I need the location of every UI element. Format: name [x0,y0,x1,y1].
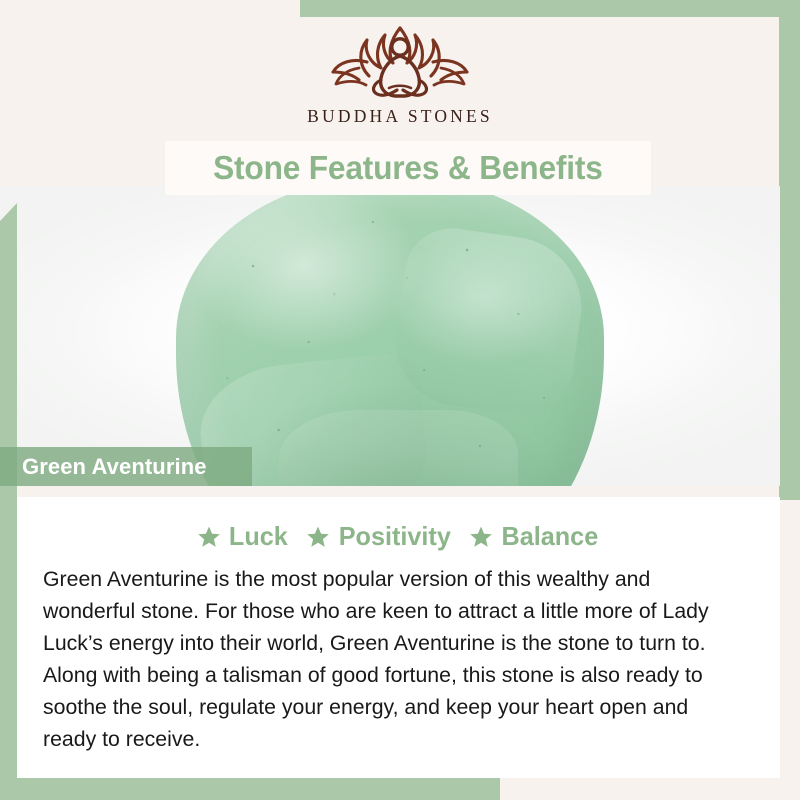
stone-speckles [176,186,604,486]
stone-photo [0,186,780,486]
infographic-card: BUDDHA STONES Stone Features & Benefits … [0,0,800,800]
benefit-label: Luck [229,521,288,552]
star-icon [469,525,493,549]
benefits-list: Luck Positivity Balance [37,521,760,552]
description-panel: Luck Positivity Balance Green Aventurine… [17,497,780,778]
stone-name-band: Green Aventurine [0,447,252,486]
star-icon [197,525,221,549]
page-title: Stone Features & Benefits [213,149,603,187]
stone-name-label: Green Aventurine [22,454,207,480]
stone-description-text: Green Aventurine is the most popular ver… [43,563,743,755]
green-aventurine-stone-image [176,186,604,486]
benefit-item-positivity: Positivity [306,521,453,552]
benefit-item-balance: Balance [469,521,600,552]
photo-backdrop [0,186,780,486]
brand-header: BUDDHA STONES [0,0,800,140]
brand-wordmark: BUDDHA STONES [307,106,493,127]
benefit-label: Balance [502,521,599,552]
benefit-label: Positivity [338,521,450,552]
benefit-item-luck: Luck [197,521,289,552]
lotus-meditation-figure-icon [315,18,485,104]
left-accent-strip [0,203,17,486]
star-icon [306,525,330,549]
frame-strip-bottom [0,778,500,800]
section-title-band: Stone Features & Benefits [165,141,651,195]
